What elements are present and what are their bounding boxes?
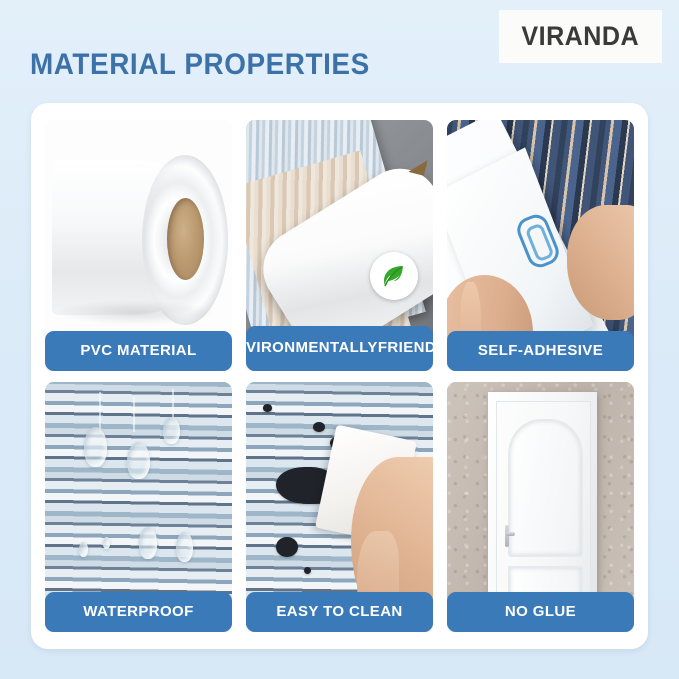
water-drop-1 (84, 427, 106, 467)
drop-trail-1 (99, 392, 101, 432)
features-grid: PVC MATERIAL (45, 120, 634, 632)
feature-panel-no-glue[interactable]: NO GLUE (447, 382, 634, 633)
feature-panel-pvc-material[interactable]: PVC MATERIAL (45, 120, 232, 371)
door-handle (500, 525, 515, 547)
handle-plate (505, 525, 509, 547)
door-leaf (496, 401, 591, 619)
feature-panel-waterproof[interactable]: WATERPROOF (45, 382, 232, 633)
stain-small-3 (263, 404, 272, 412)
roll-shadow (56, 300, 217, 325)
handle-lever (506, 532, 515, 535)
feature-label-environmentally-friendly: ENVIRONMENTALLY FRIENDLY (246, 326, 433, 371)
feature-panel-environmentally-friendly[interactable]: ENVIRONMENTALLY FRIENDLY (246, 120, 433, 371)
feature-label-pvc-material: PVC MATERIAL (45, 331, 232, 371)
door-frame (488, 392, 596, 617)
brand-name: VIRANDA (522, 21, 640, 52)
stain-medium (276, 537, 298, 557)
stain-small-1 (313, 422, 324, 432)
roll-tip-corner (408, 156, 427, 175)
infographic-page: VIRANDA MATERIAL PROPERTIES PVC MATERIAL (0, 0, 679, 679)
water-drop-5 (176, 532, 193, 562)
door-panel-upper (508, 419, 583, 557)
features-card: PVC MATERIAL (31, 103, 648, 649)
water-drop-6 (79, 542, 88, 557)
feature-label-easy-to-clean: EASY TO CLEAN (246, 592, 433, 632)
water-drop-2 (127, 442, 149, 480)
feature-label-no-glue: NO GLUE (447, 592, 634, 632)
feature-label-waterproof: WATERPROOF (45, 592, 232, 632)
label-line-1: ENVIRONMENTALLY (246, 340, 378, 355)
drop-trail-3 (172, 389, 174, 419)
feature-panel-self-adhesive[interactable]: SELF-ADHESIVE (447, 120, 634, 371)
label-line-2: FRIENDLY (378, 340, 433, 355)
brand-logo-box: VIRANDA (499, 10, 662, 63)
feature-label-self-adhesive: SELF-ADHESIVE (447, 331, 634, 371)
water-drop-3 (163, 417, 180, 445)
roll-core-shape (167, 198, 204, 281)
water-drop-4 (139, 527, 158, 560)
feature-panel-easy-to-clean[interactable]: EASY TO CLEAN (246, 382, 433, 633)
drop-trail-2 (133, 397, 135, 432)
page-title: MATERIAL PROPERTIES (30, 48, 370, 82)
